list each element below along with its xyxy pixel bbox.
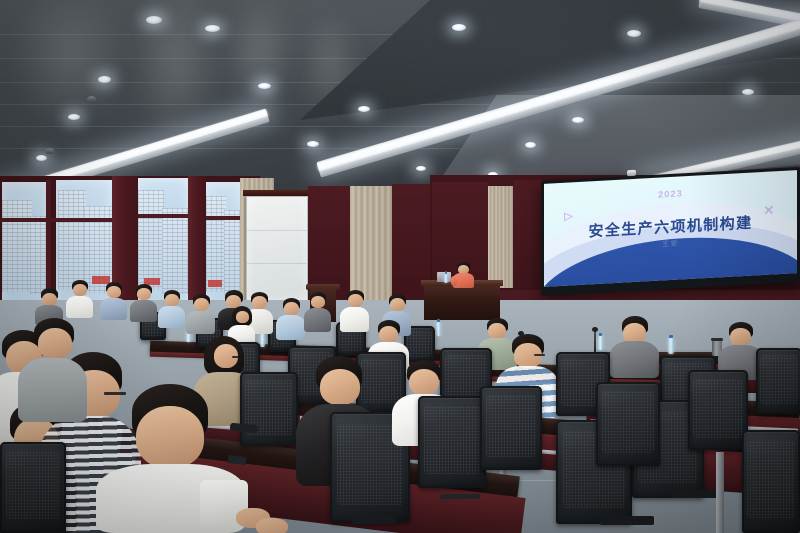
- attendee: [304, 292, 332, 332]
- desk-microphone: [594, 330, 596, 352]
- ceiling-downlight: [572, 117, 584, 123]
- ceiling-downlight: [36, 155, 47, 161]
- attendee-grey-foreground: [18, 318, 88, 422]
- window-transom: [0, 218, 115, 222]
- window-transom: [206, 216, 242, 220]
- water-bottle: [598, 336, 603, 350]
- desk-leg: [716, 452, 724, 533]
- attendee: [130, 284, 158, 322]
- water-bottle: [668, 338, 674, 354]
- chair[interactable]: [756, 348, 800, 414]
- hand: [256, 518, 288, 533]
- ceiling-downlight: [258, 83, 271, 89]
- ceiling-downlight: [146, 16, 162, 24]
- smoke-detector-icon: [45, 148, 54, 154]
- presentation-screen[interactable]: ▷ ✕ 2023 安全生产六项机制构建 王安: [541, 167, 800, 296]
- ceiling-downlight: [68, 114, 80, 120]
- head-table: [424, 284, 500, 320]
- attendee: [158, 290, 186, 328]
- attendee: [66, 280, 94, 318]
- water-bottle: [436, 322, 441, 336]
- chair[interactable]: [742, 430, 800, 533]
- water-bottle: [260, 334, 265, 347]
- attendee: [340, 290, 370, 332]
- attendee: [276, 298, 306, 340]
- ceiling-downlight: [452, 24, 466, 31]
- attendee: [186, 294, 216, 334]
- slide-year: 2023: [544, 183, 797, 207]
- slide-content: ▷ ✕ 2023 安全生产六项机制构建 王安: [544, 170, 797, 287]
- ceiling-downlight: [307, 141, 319, 147]
- whiteboard: [246, 196, 308, 301]
- conference-room-photo: ▷ ✕ 2023 安全生产六项机制构建 王安: [0, 0, 800, 533]
- chair-base: [352, 516, 396, 524]
- chair[interactable]: [596, 382, 660, 466]
- chair[interactable]: [418, 396, 486, 488]
- chair[interactable]: [0, 442, 66, 533]
- chair[interactable]: [480, 386, 542, 470]
- ceiling-downlight: [525, 142, 536, 148]
- ceiling-downlight: [358, 106, 370, 112]
- smoke-detector-icon: [87, 96, 96, 102]
- chair-base: [672, 490, 720, 498]
- whiteboard-rail: [243, 190, 313, 196]
- presenter: [452, 262, 476, 286]
- ceiling-downlight: [98, 76, 111, 83]
- chair-base: [600, 516, 654, 525]
- screen-camera-icon: [627, 170, 636, 176]
- ceiling-downlight: [627, 30, 641, 37]
- attendee-grey-near-screen: [610, 316, 660, 378]
- desk-foot: [440, 494, 480, 499]
- chair[interactable]: [240, 372, 298, 446]
- window-transom: [138, 214, 190, 218]
- curtain-stage: [487, 186, 513, 288]
- attendee: [100, 282, 128, 320]
- attendee-white-shirt-foreground: [96, 384, 246, 533]
- water-bottle: [444, 274, 448, 283]
- ceiling-downlight: [205, 25, 220, 32]
- chair[interactable]: [688, 370, 748, 450]
- wall-panel: [513, 180, 543, 296]
- ceiling-downlight: [742, 89, 754, 95]
- ceiling-downlight: [416, 166, 426, 171]
